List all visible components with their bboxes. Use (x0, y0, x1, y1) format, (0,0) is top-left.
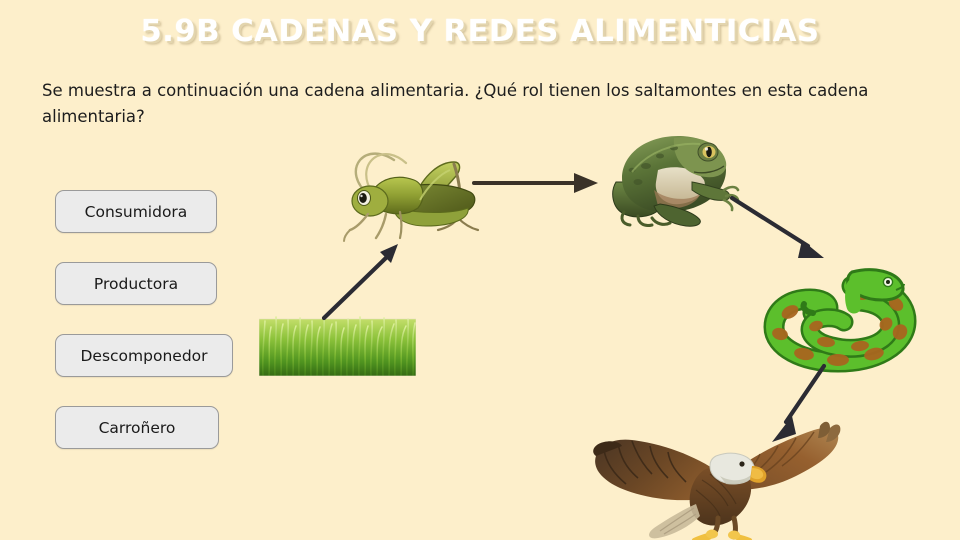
eagle-image (592, 418, 842, 540)
slide-root: 5.9B Cadenas y Redes Alimenticias Se mue… (0, 0, 960, 540)
frog-image (608, 126, 740, 236)
option-label: Descomponedor (80, 347, 207, 365)
option-button-descomponedor[interactable]: Descomponedor (55, 334, 233, 377)
page-title: 5.9B Cadenas y Redes Alimenticias (0, 14, 960, 49)
option-label: Productora (94, 275, 178, 293)
snake-image (756, 250, 918, 378)
option-button-carronero[interactable]: Carroñero (55, 406, 219, 449)
arrow-grass-to-grasshopper (318, 232, 410, 322)
option-label: Carroñero (99, 419, 176, 437)
option-button-productora[interactable]: Productora (55, 262, 217, 305)
arrow-grasshopper-to-frog (470, 164, 604, 202)
option-button-consumidora[interactable]: Consumidora (55, 190, 217, 233)
option-label: Consumidora (85, 203, 188, 221)
question-text: Se muestra a continuación una cadena ali… (42, 78, 898, 129)
